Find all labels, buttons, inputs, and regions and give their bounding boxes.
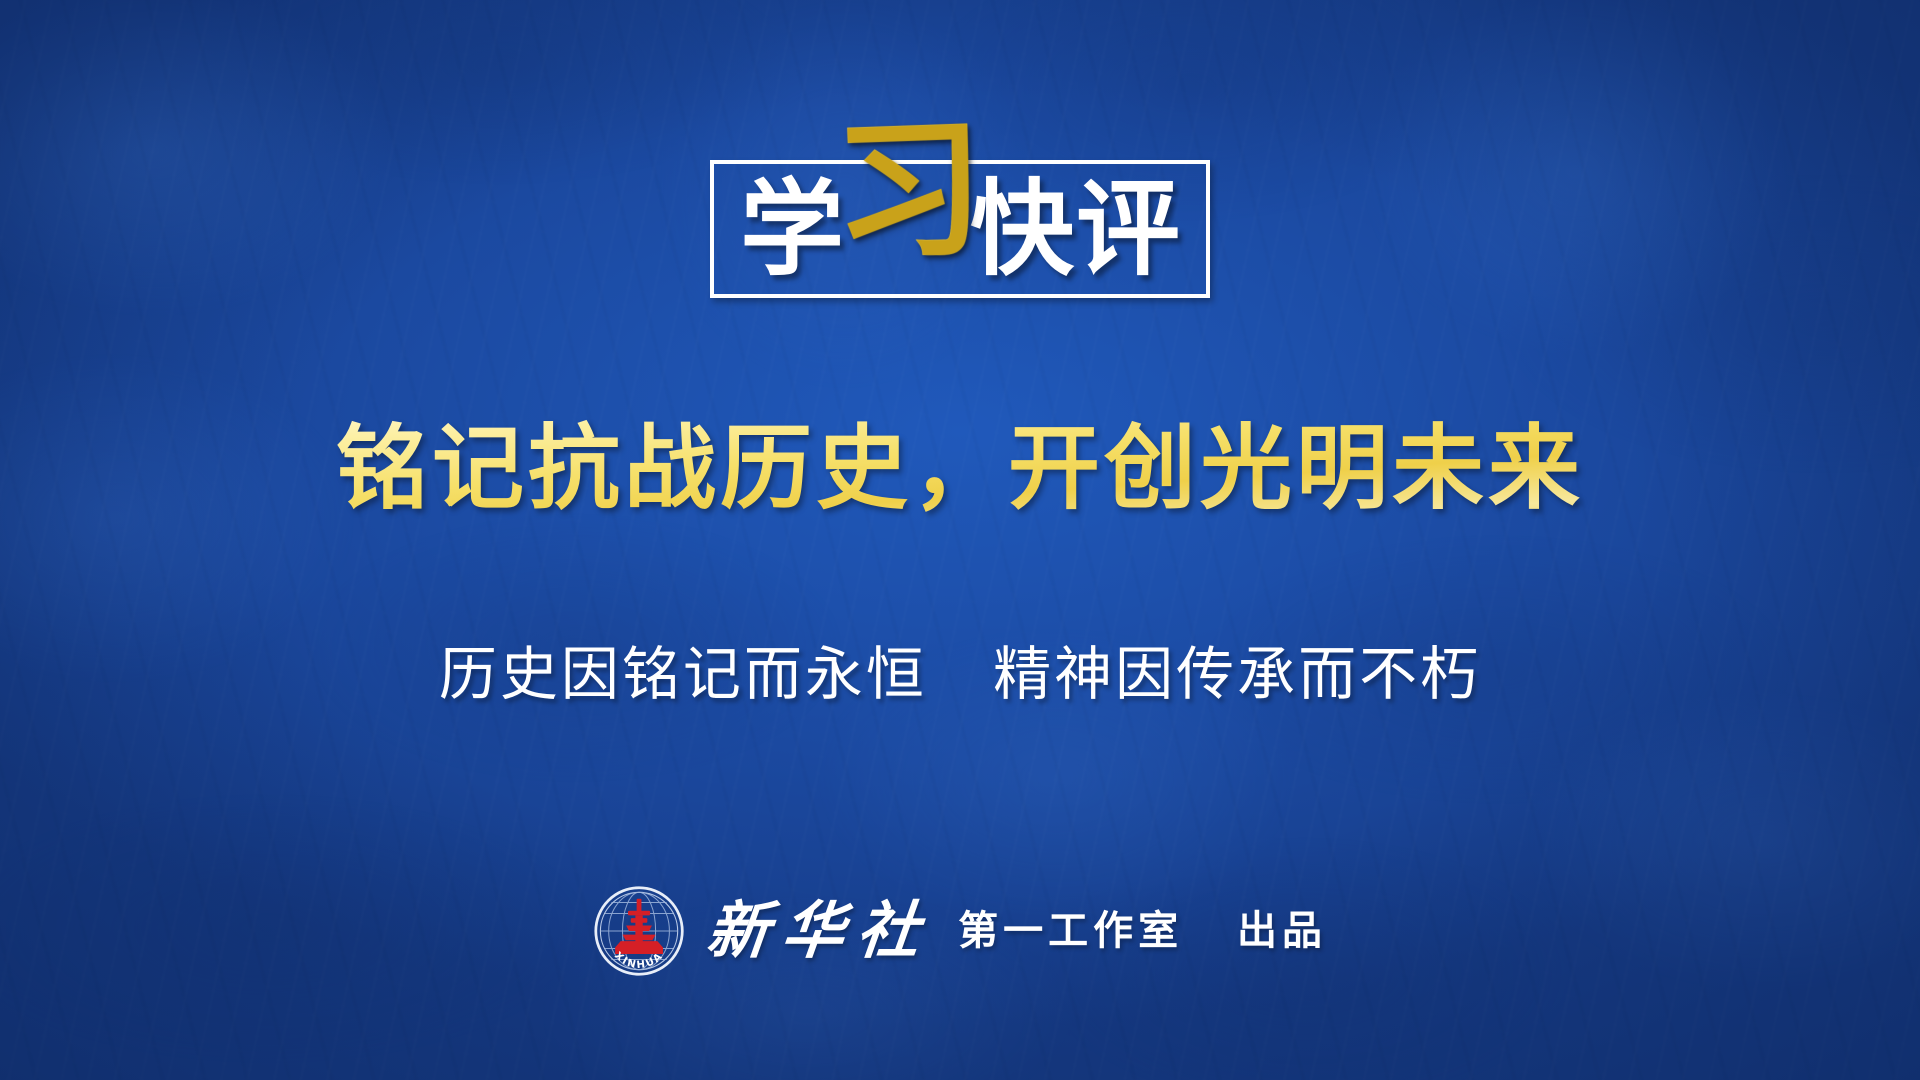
subtitle: 历史因铭记而永恒 精神因传承而不朽 bbox=[0, 640, 1920, 710]
logo-char-xi: 习 bbox=[831, 113, 986, 268]
logo-char-xue: 学 bbox=[740, 177, 844, 281]
produced-by-label: 出品 bbox=[1237, 907, 1327, 954]
poster-canvas: 学 习 快 评 铭记抗战历史，开创光明未来 历史因铭记而永恒 精神因传承而不朽 bbox=[0, 0, 1920, 1080]
agency-char-hua: 华 bbox=[779, 900, 851, 962]
subtitle-part-1: 历史因铭记而永恒 bbox=[439, 642, 927, 707]
program-logo: 学 习 快 评 bbox=[710, 160, 1210, 298]
studio-credit: 第一工作室 出品 bbox=[958, 911, 1327, 951]
agency-char-she: 社 bbox=[854, 900, 926, 962]
logo-char-ping: 评 bbox=[1076, 177, 1180, 281]
studio-name: 第一工作室 bbox=[958, 907, 1183, 954]
agency-char-xin: 新 bbox=[704, 900, 776, 962]
headline: 铭记抗战历史，开创光明未来 bbox=[0, 418, 1920, 519]
footer-credit: XINHUA 新 华 社 第一工作室 出品 bbox=[593, 885, 1327, 977]
program-logo-characters: 学 习 快 评 bbox=[710, 160, 1210, 298]
poster-content: 学 习 快 评 铭记抗战历史，开创光明未来 历史因铭记而永恒 精神因传承而不朽 bbox=[0, 0, 1920, 1080]
agency-name: 新 华 社 bbox=[704, 900, 926, 962]
xinhua-emblem-icon: XINHUA bbox=[593, 885, 685, 977]
subtitle-part-2: 精神因传承而不朽 bbox=[993, 642, 1481, 707]
